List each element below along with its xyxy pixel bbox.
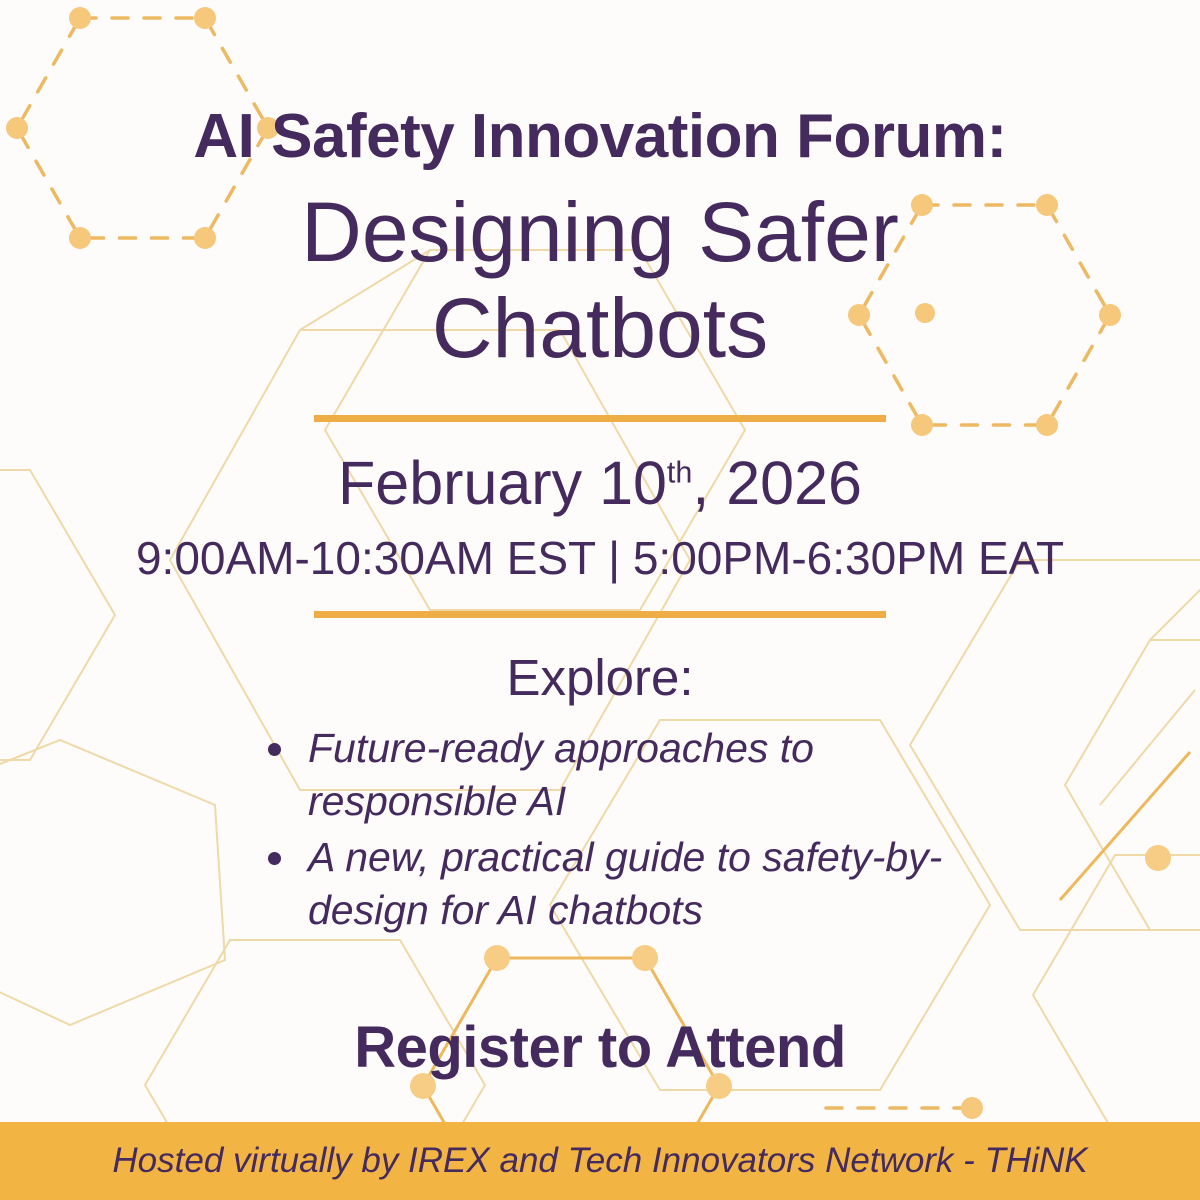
register-to-attend-cta[interactable]: Register to Attend <box>354 1016 846 1080</box>
divider-top <box>314 415 886 422</box>
explore-list: Future-ready approaches to responsible A… <box>120 722 1080 940</box>
divider-bottom <box>314 611 886 618</box>
bullet-dot-icon <box>268 852 281 865</box>
page-title: AI Safety Innovation Forum: <box>193 104 1006 169</box>
footer-host-text: Hosted virtually by IREX and Tech Innova… <box>112 1141 1087 1181</box>
event-date: February 10th, 2026 <box>338 450 862 517</box>
event-date-ordinal: th <box>667 455 692 489</box>
explore-heading: Explore: <box>506 650 693 706</box>
event-times: 9:00AM-10:30AM EST | 5:00PM-6:30PM EAT <box>136 533 1064 584</box>
poster-content: AI Safety Innovation Forum: Designing Sa… <box>0 0 1200 1200</box>
bullet-dot-icon <box>268 743 281 756</box>
event-date-prefix: February 10 <box>338 449 667 517</box>
footer-bar: Hosted virtually by IREX and Tech Innova… <box>0 1122 1200 1200</box>
list-item-label: A new, practical guide to safety-by-desi… <box>308 834 942 932</box>
list-item: Future-ready approaches to responsible A… <box>120 722 1080 827</box>
page-subtitle: Designing Safer Chatbots <box>220 185 980 377</box>
event-date-suffix: , 2026 <box>692 449 862 517</box>
list-item: A new, practical guide to safety-by-desi… <box>120 831 1080 936</box>
list-item-label: Future-ready approaches to responsible A… <box>308 725 814 823</box>
event-poster: AI Safety Innovation Forum: Designing Sa… <box>0 0 1200 1200</box>
